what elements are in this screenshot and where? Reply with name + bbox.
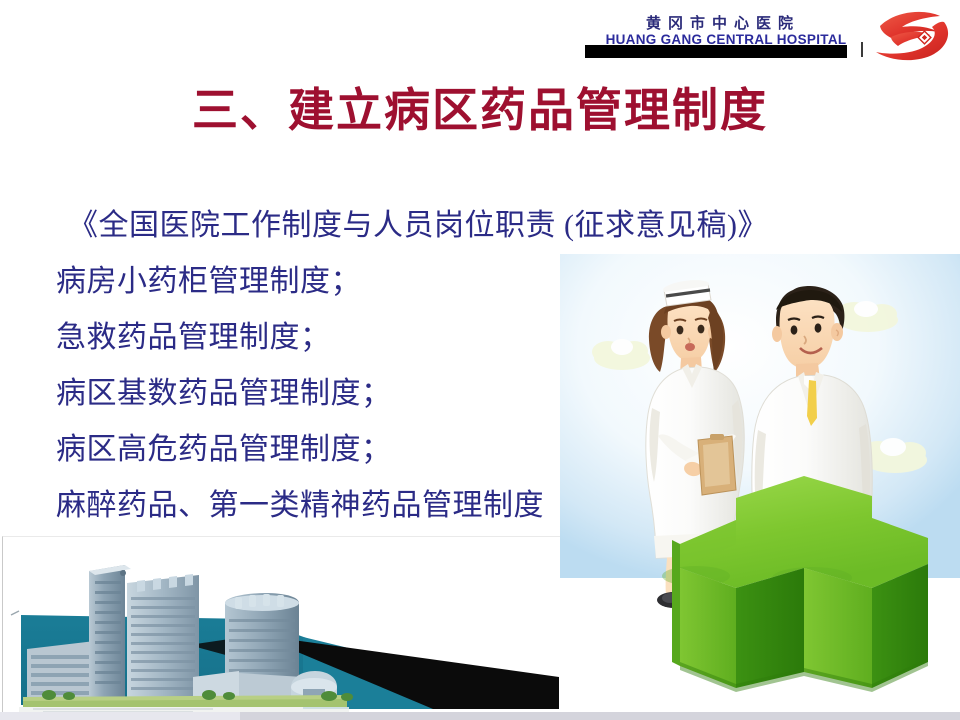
body-line: 《全国医院工作制度与人员岗位职责 (征求意见稿)》 (56, 198, 816, 254)
hospital-name-en: HUANG GANG CENTRAL HOSPITAL (580, 32, 872, 47)
body-line: 病区基数药品管理制度； (56, 366, 816, 422)
body-line: 病区高危药品管理制度； (56, 422, 816, 478)
hospital-name-cn: 黄冈市中心医院 (578, 12, 868, 33)
slide-canvas: 黄冈市中心医院 HUANG GANG CENTRAL HOSPITAL (0, 0, 960, 720)
red-swirl-logo-icon (860, 6, 956, 66)
body-line: 麻醉药品、第一类精神药品管理制度 (56, 478, 816, 534)
cloud-icon (837, 301, 898, 332)
body-line: 急救药品管理制度； (56, 310, 816, 366)
body-line: 病房小药柜管理制度； (56, 254, 816, 310)
hospital-building-photo (2, 536, 561, 715)
body-text-block: 《全国医院工作制度与人员岗位职责 (征求意见稿)》 病房小药柜管理制度； 急救药… (56, 198, 816, 534)
hospital-header: 黄冈市中心医院 HUANG GANG CENTRAL HOSPITAL (560, 6, 960, 68)
footer-bar-light-segment (0, 712, 240, 720)
page-title: 三、建立病区药品管理制度 (0, 82, 960, 138)
